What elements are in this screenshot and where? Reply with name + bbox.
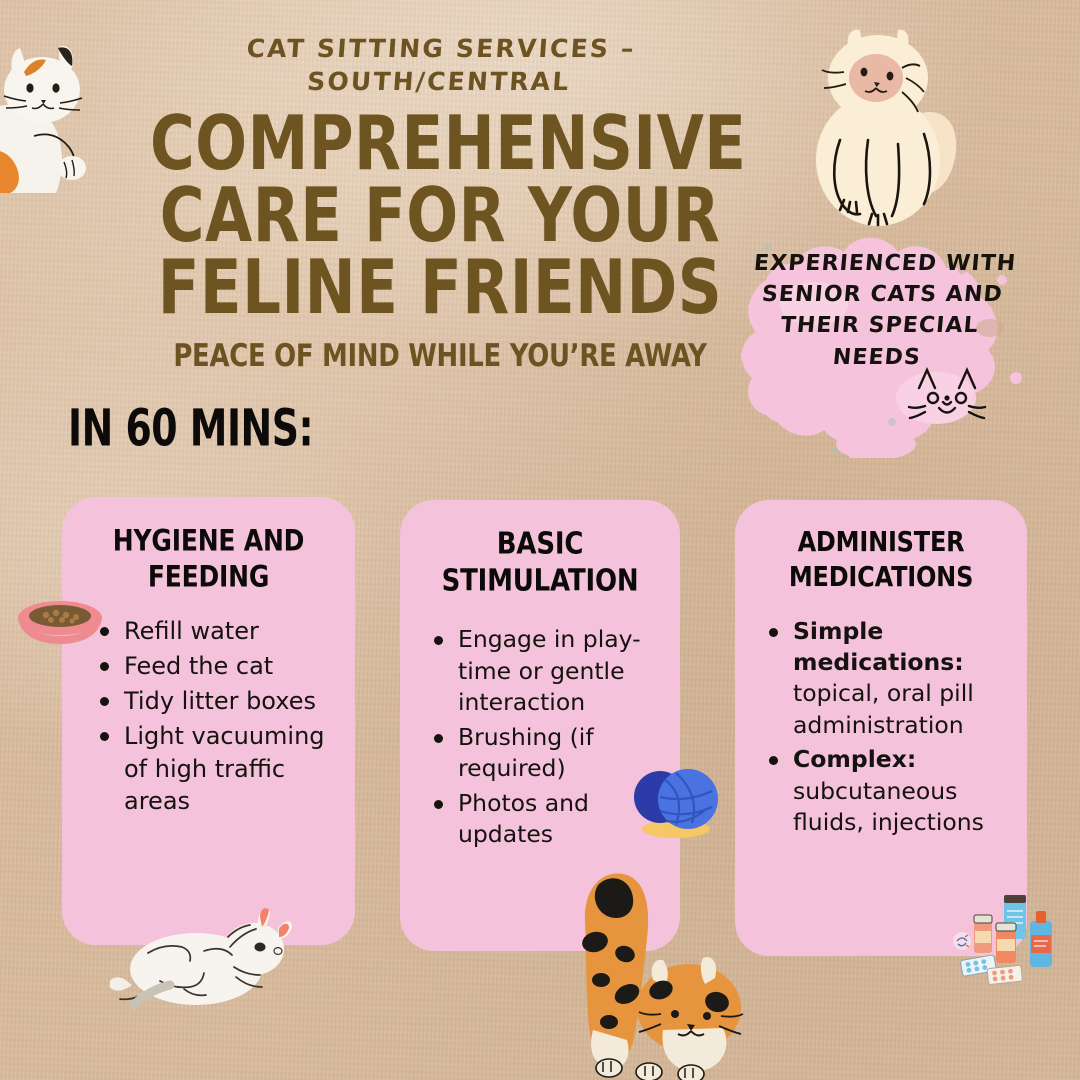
eyebrow-text: Cat Sitting Services – South/Central: [148, 32, 733, 98]
white-cat-icon: [108, 893, 302, 1015]
poster-canvas: Cat Sitting Services – South/Central Com…: [0, 0, 1080, 1080]
list-item-text: Photos and updates: [458, 789, 589, 848]
list-item-text: topical, oral pill administration: [793, 679, 974, 738]
section-kicker: In 60 mins:: [68, 400, 313, 459]
list-item-text: Brushing (if required): [458, 723, 594, 782]
headline-line-1: Comprehensive: [150, 108, 730, 180]
list-item: Tidy litter boxes: [98, 685, 347, 717]
bullet-icon: [769, 756, 778, 765]
list-item-text: Engage in play-time or gentle interactio…: [458, 625, 641, 716]
list-item: Light vacuuming of high traffic areas: [98, 720, 347, 816]
bullet-icon: [100, 732, 109, 741]
card-list: Simple medications: topical, oral pill a…: [735, 616, 1027, 839]
list-item: Complex: subcutaneous fluids, injections: [767, 744, 1019, 838]
list-item: Refill water: [98, 615, 347, 647]
list-item: Engage in play-time or gentle interactio…: [432, 624, 670, 718]
card-title: Administer Medications: [735, 500, 1027, 595]
subheadline-text: Peace of mind while you’re away: [162, 338, 719, 374]
orange-tabby-cat-icon: [565, 862, 765, 1080]
bullet-icon: [100, 697, 109, 706]
list-item: Feed the cat: [98, 650, 347, 682]
bullet-icon: [769, 628, 778, 637]
list-item-text: Light vacuuming of high traffic areas: [124, 722, 325, 814]
bullet-icon: [434, 734, 443, 743]
bullet-icon: [434, 636, 443, 645]
list-item-text: Refill water: [124, 617, 259, 645]
service-card-hygiene[interactable]: Hygiene and Feeding Refill water Feed th…: [62, 497, 355, 945]
card-title: Hygiene and Feeding: [62, 497, 355, 594]
medicine-bottles-icon: [952, 893, 1070, 985]
list-item-text: Feed the cat: [124, 652, 273, 680]
yarn-ball-icon: [632, 757, 724, 841]
service-card-medications[interactable]: Administer Medications Simple medication…: [735, 500, 1027, 956]
list-item: Simple medications: topical, oral pill a…: [767, 616, 1019, 742]
headline-line-2: care for your: [150, 180, 730, 252]
bullet-icon: [100, 662, 109, 671]
headline-line-3: feline friends: [150, 252, 730, 324]
cream-cat-icon: [806, 22, 976, 240]
list-item-label: Simple medications:: [793, 617, 964, 676]
list-item-text: subcutaneous fluids, injections: [793, 777, 984, 836]
page-title: Comprehensive care for your feline frien…: [150, 108, 730, 325]
bullet-icon: [434, 800, 443, 809]
badge-text: Experienced with senior cats and their s…: [731, 248, 1032, 373]
list-item-label: Complex:: [793, 745, 916, 773]
list-item-text: Tidy litter boxes: [124, 687, 316, 715]
card-title: Basic Stimulation: [400, 500, 680, 600]
cat-face-icon: [905, 362, 991, 424]
cat-food-bowl-icon: [14, 588, 106, 650]
calico-cat-icon: [0, 28, 112, 193]
